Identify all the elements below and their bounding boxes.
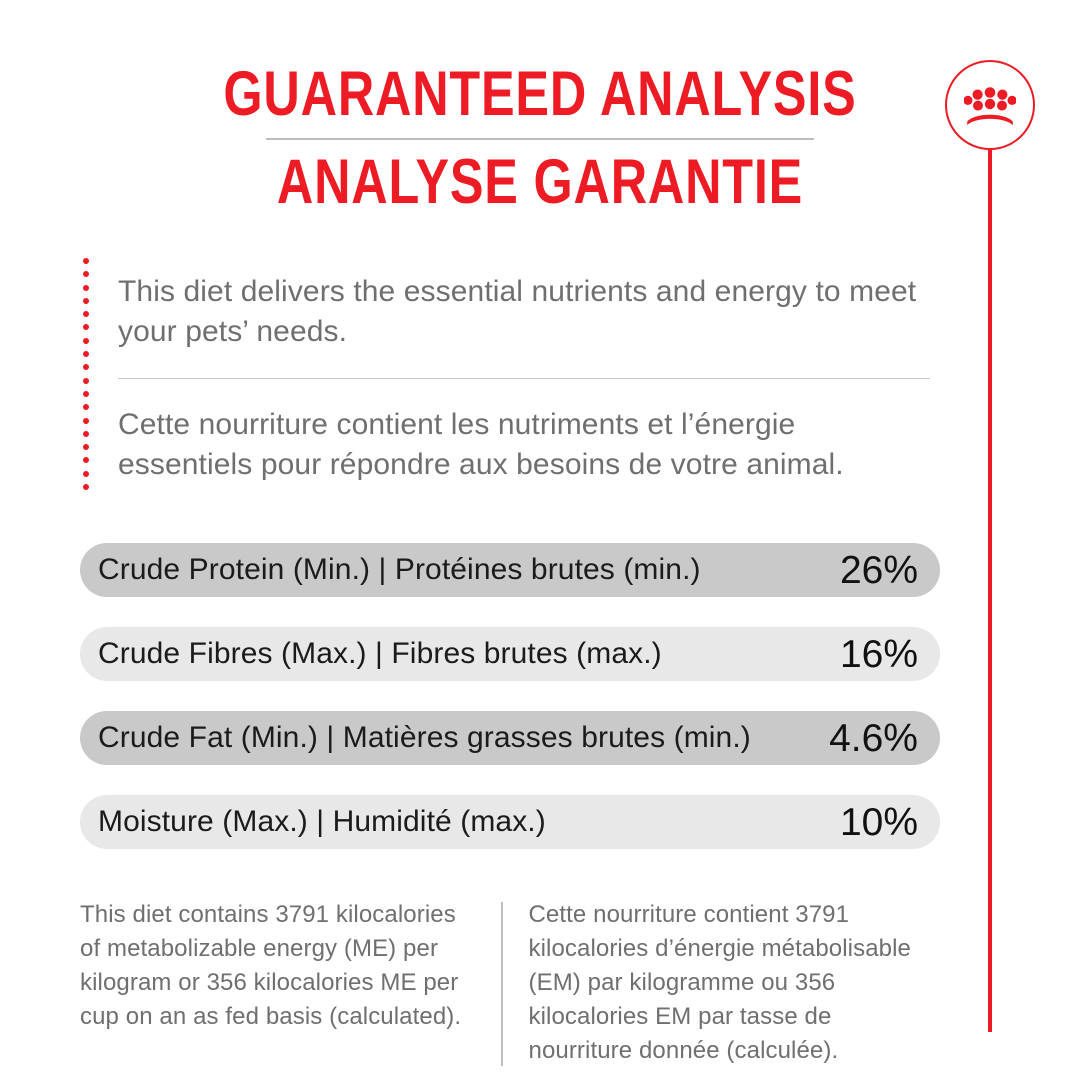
title-divider [266,138,814,140]
nutrient-value: 26% [840,551,918,590]
footer-divider [501,902,503,1066]
footer-column-english: This diet contains 3791 kilocalories of … [80,898,475,1068]
title-english: GUARANTEED ANALYSIS [108,62,972,126]
nutrient-value: 4.6% [829,719,918,758]
intro-section: This diet delivers the essential nutrien… [118,272,934,485]
dotted-accent-rail [83,258,89,490]
analysis-row-list: Crude Protein (Min.) | Protéines brutes … [80,543,940,879]
intro-divider [118,378,930,380]
table-row: Crude Fat (Min.) | Matières grasses brut… [80,711,940,765]
page-title: GUARANTEED ANALYSIS ANALYSE GARANTIE [0,62,1080,214]
title-french: ANALYSE GARANTIE [108,150,972,214]
nutrient-label: Crude Fat (Min.) | Matières grasses brut… [98,721,751,755]
nutrient-value: 10% [840,803,918,842]
guaranteed-analysis-panel: GUARANTEED ANALYSIS ANALYSE GARANTIE Thi… [0,0,1080,1080]
footer-section: This diet contains 3791 kilocalories of … [80,898,990,1068]
intro-text-french: Cette nourriture contient les nutriments… [118,405,934,485]
nutrient-label: Crude Protein (Min.) | Protéines brutes … [98,553,701,587]
table-row: Crude Protein (Min.) | Protéines brutes … [80,543,940,597]
table-row: Crude Fibres (Max.) | Fibres brutes (max… [80,627,940,681]
footer-column-french: Cette nourriture contient 3791 kilocalor… [529,898,924,1068]
nutrient-value: 16% [840,635,918,674]
nutrient-label: Crude Fibres (Max.) | Fibres brutes (max… [98,637,662,671]
table-row: Moisture (Max.) | Humidité (max.) 10% [80,795,940,849]
nutrient-label: Moisture (Max.) | Humidité (max.) [98,805,546,839]
intro-text-english: This diet delivers the essential nutrien… [118,272,934,352]
footer-text-french: Cette nourriture contient 3791 kilocalor… [529,898,924,1068]
footer-text-english: This diet contains 3791 kilocalories of … [80,898,475,1034]
